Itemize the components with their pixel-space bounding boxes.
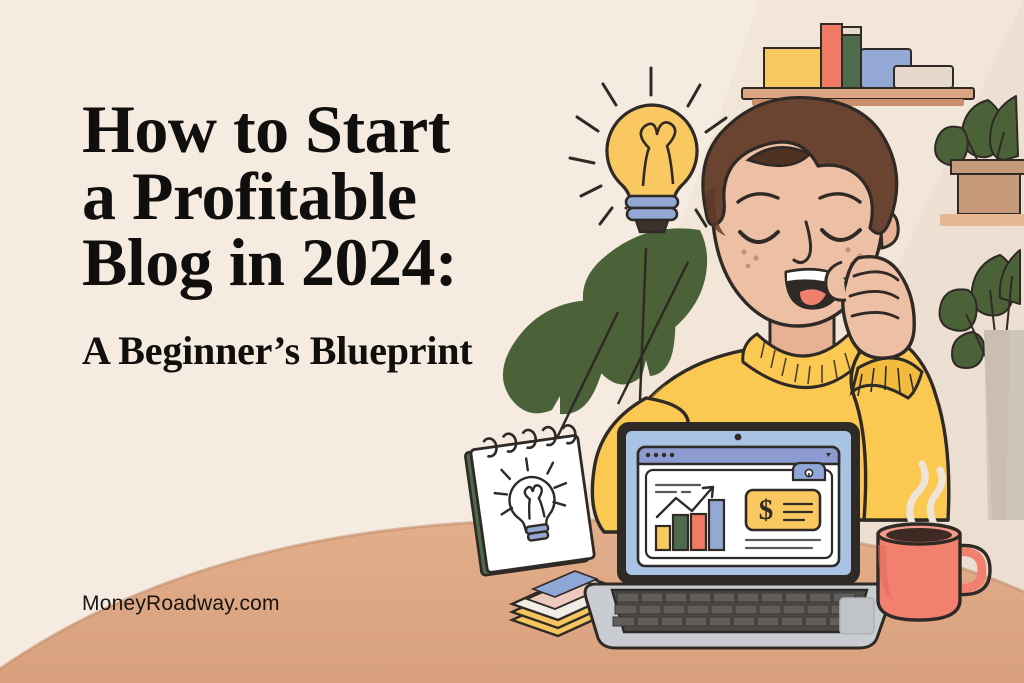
page-title: How to Start a Profitable Blog in 2024: <box>82 96 552 296</box>
bar-2 <box>673 515 688 550</box>
book-red <box>821 24 842 88</box>
mug-body <box>878 534 960 620</box>
lock-badge <box>793 463 825 480</box>
notepad-bulb-base <box>526 524 550 541</box>
laptop: $ <box>585 422 892 648</box>
headline-line-3: Blog in 2024: <box>82 229 552 296</box>
money-card: $ <box>746 490 820 530</box>
bar-3 <box>691 514 706 550</box>
bar-1 <box>656 526 670 550</box>
book-cream <box>894 66 953 88</box>
svg-text:$: $ <box>759 494 774 526</box>
book-green-top <box>842 27 861 35</box>
coffee <box>886 528 952 542</box>
cover-image: $ <box>0 0 1024 683</box>
trackpad <box>840 598 874 634</box>
book-green <box>842 33 861 88</box>
page-subtitle: A Beginner’s Blueprint <box>82 330 552 372</box>
headline-line-1: How to Start <box>82 96 552 163</box>
bar-4 <box>709 500 724 550</box>
headline-line-2: a Profitable <box>82 163 552 230</box>
book-yellow <box>764 48 821 88</box>
browser-titlebar <box>638 447 839 464</box>
site-url: MoneyRoadway.com <box>82 592 280 616</box>
